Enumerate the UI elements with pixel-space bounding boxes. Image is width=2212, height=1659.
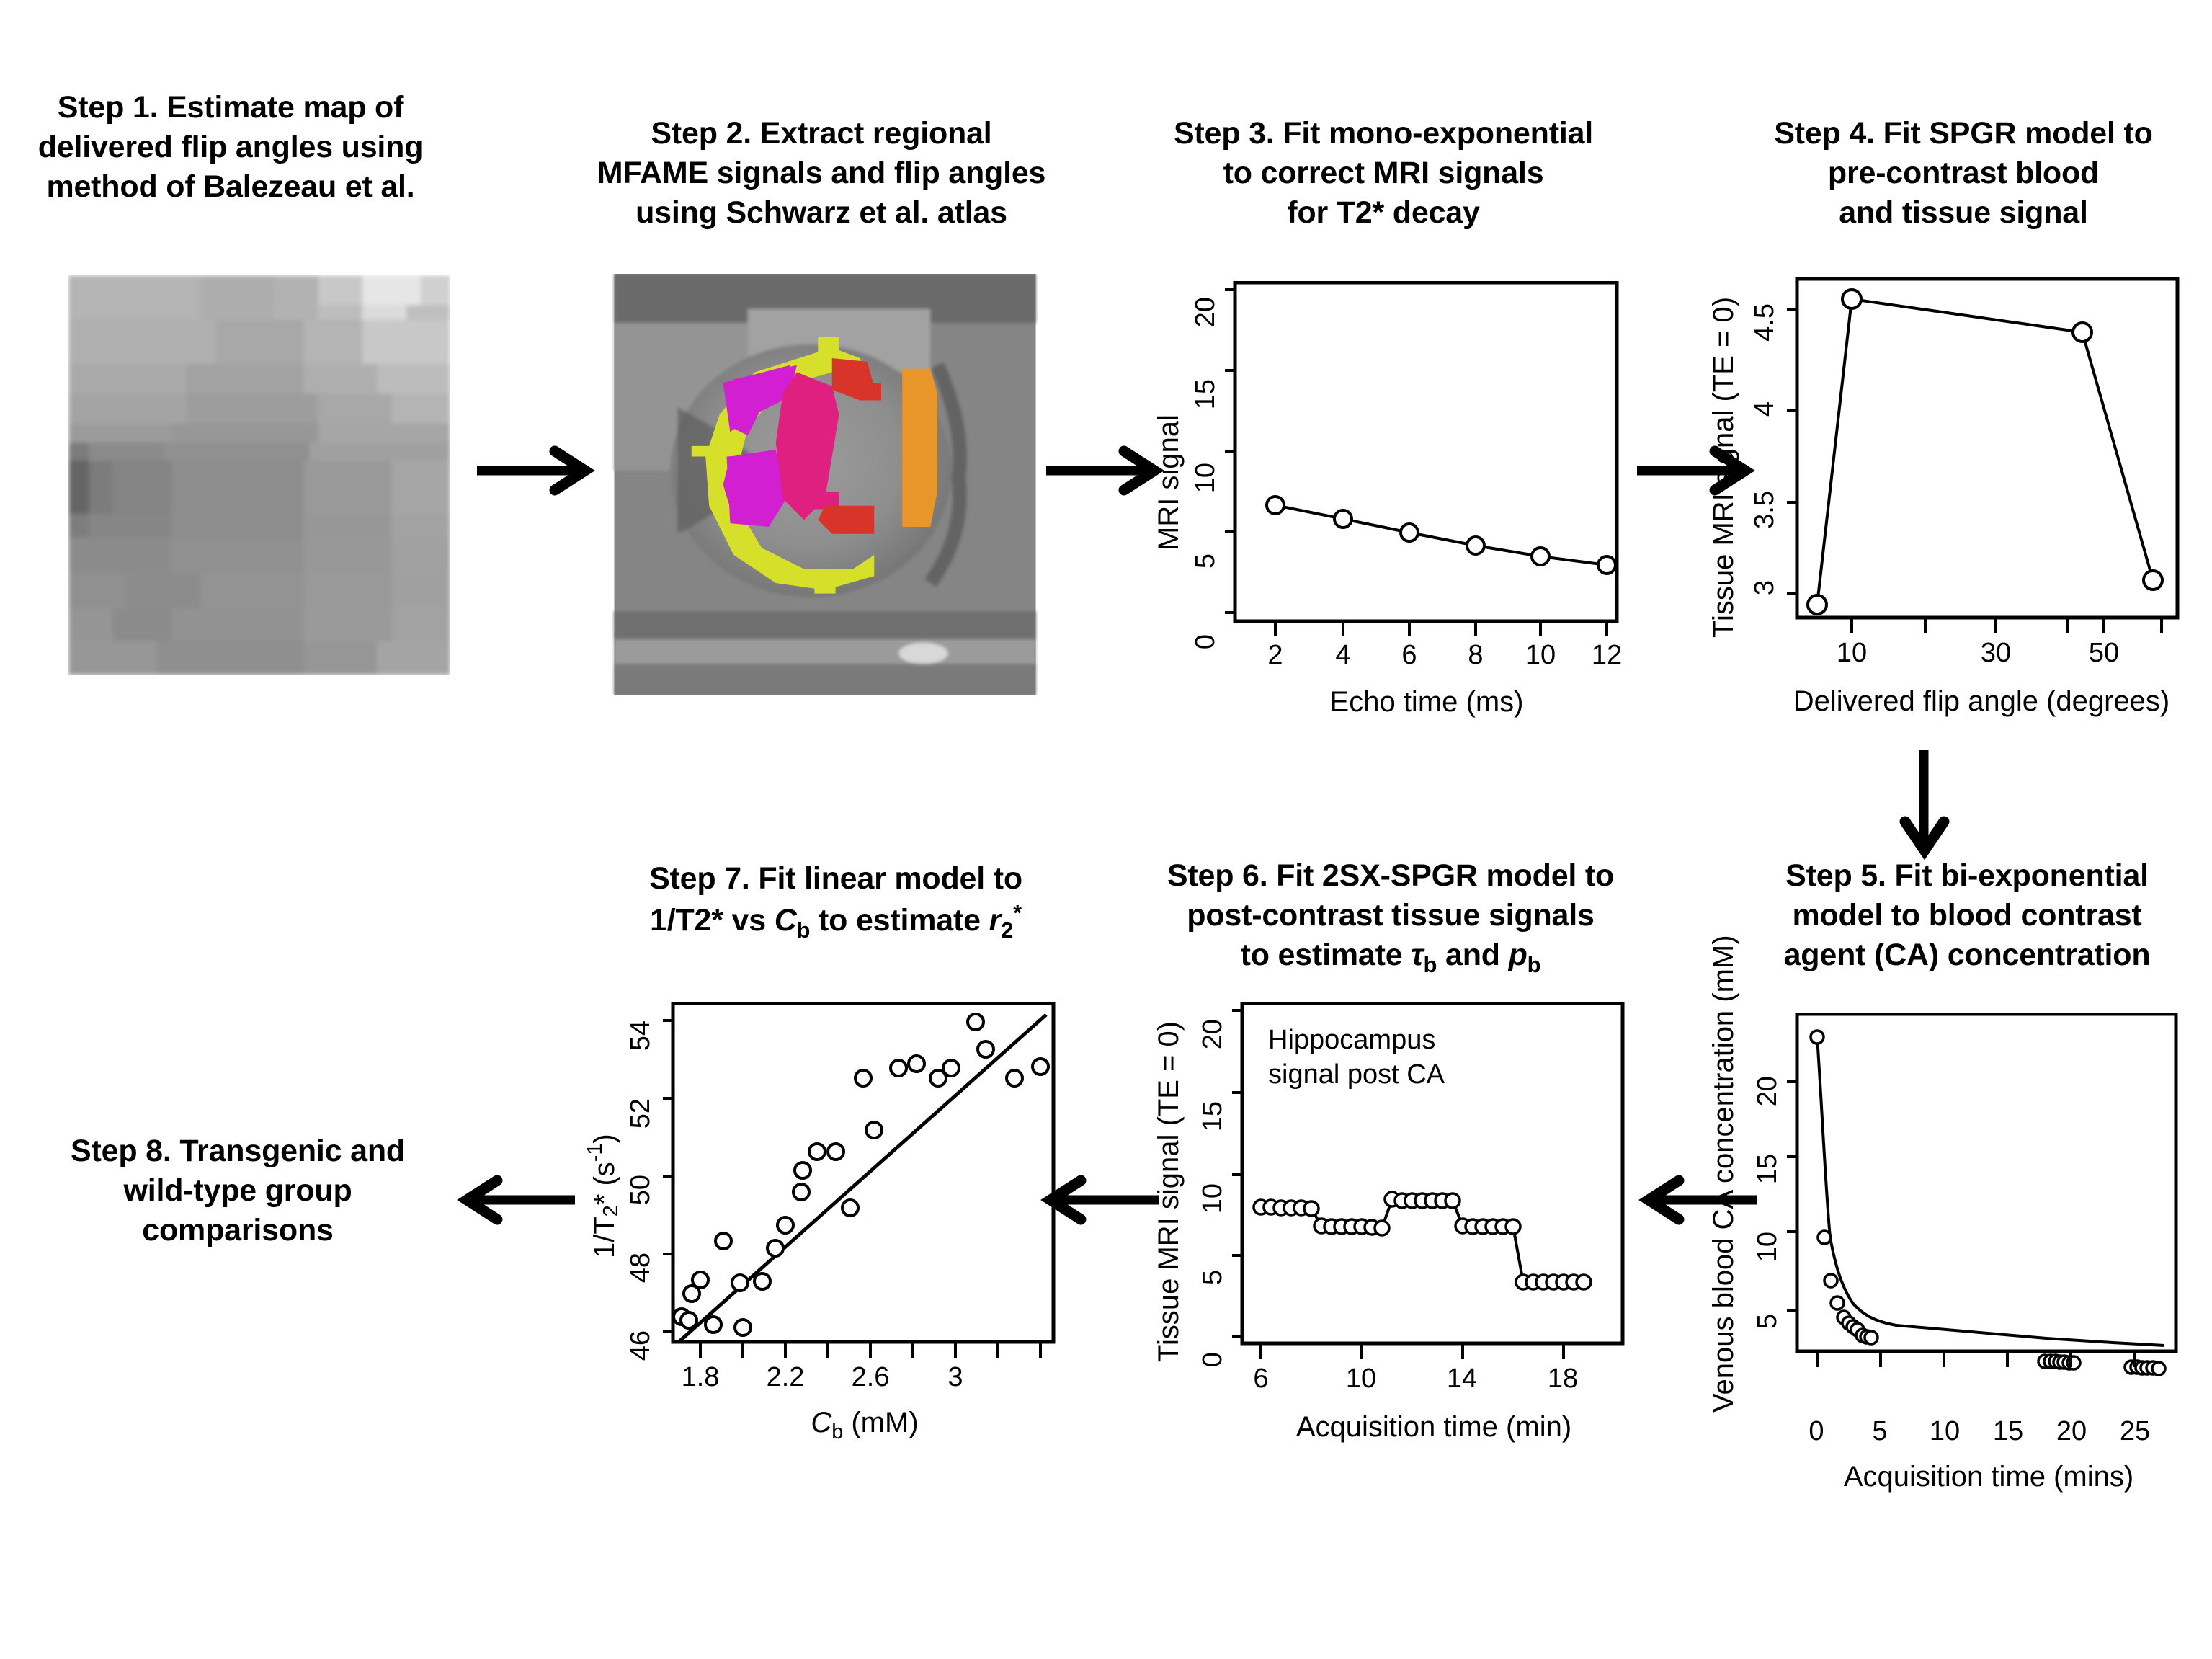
step-6-annotation: Hippocampus signal post CA — [1268, 1023, 1445, 1092]
step-6-chart: Tissue MRI signal (TE = 0) 20 15 10 5 0 — [1153, 1002, 1643, 1470]
step-3-y-tick-0: 0 — [1190, 634, 1221, 649]
step-7-y-tick-54: 54 — [625, 1020, 656, 1051]
step-5-y-tick-20: 20 — [1752, 1076, 1783, 1106]
step-8-title: Step 8. Transgenic and wild-type group c… — [43, 1131, 432, 1250]
step-5-title-line-2: model to blood contrast — [1729, 896, 2205, 935]
step-2-title-line-2: MFAME signals and flip angles — [555, 154, 1088, 193]
step-7-x-tick-1-8: 1.8 — [672, 1362, 729, 1393]
step-6-y-tick-0: 0 — [1198, 1352, 1228, 1367]
step-4-y-tick-4-5: 4.5 — [1749, 303, 1780, 342]
step-7-x-tick-2-6: 2.6 — [842, 1362, 899, 1393]
step-5-x-tick-25: 25 — [2113, 1416, 2157, 1447]
step-2-title-line-1: Step 2. Extract regional — [555, 114, 1088, 154]
step-3-x-axis-label: Echo time (ms) — [1225, 686, 1628, 719]
step-6-title-line-3: to estimate τb and pb — [1138, 935, 1643, 979]
step-5-y-tick-10: 10 — [1752, 1232, 1783, 1262]
step-3-plot-area — [1225, 281, 1628, 670]
arrow-step2-to-step3 — [1045, 445, 1167, 496]
step-4-x-tick-30: 30 — [1974, 638, 2017, 669]
step-6-x-tick-10: 10 — [1339, 1364, 1383, 1395]
step-7-title-line-1: Step 7. Fit linear model to — [591, 859, 1081, 899]
step-5-title: Step 5. Fit bi-exponential model to bloo… — [1729, 856, 2205, 975]
arrow-step4-to-step5 — [1895, 750, 1953, 858]
step-7-chart: 1/T2* (s-1) 54 52 50 48 46 — [584, 1002, 1074, 1470]
step-6-x-tick-18: 18 — [1540, 1364, 1585, 1395]
step-6-title: Step 6. Fit 2SX-SPGR model to post-contr… — [1138, 856, 1643, 979]
step-5-x-tick-0: 0 — [1800, 1416, 1833, 1447]
step-4-x-tick-50: 50 — [2082, 638, 2126, 669]
brain-atlas-overlay — [612, 274, 1038, 695]
step-5-x-tick-15: 15 — [1986, 1416, 2030, 1447]
step-7-y-tick-52: 52 — [625, 1098, 656, 1129]
step-3-x-tick-12: 12 — [1585, 640, 1628, 671]
step-4-y-tick-3-0: 3 — [1749, 580, 1780, 595]
arrow-step7-to-step8 — [454, 1175, 576, 1225]
arrow-step1-to-step2 — [476, 445, 598, 496]
step-4-plot-area — [1787, 277, 2190, 667]
step-1-panel — [68, 275, 450, 675]
step-4-y-tick-4-0: 4 — [1749, 401, 1780, 417]
step-6-x-tick-14: 14 — [1440, 1364, 1484, 1395]
step-6-y-tick-20: 20 — [1198, 1019, 1228, 1049]
step-8-title-line-2: wild-type group — [43, 1171, 432, 1211]
step-2-title: Step 2. Extract regional MFAME signals a… — [555, 114, 1088, 233]
step-4-y-axis-label: Tissue MRI signal (TE = 0) — [1708, 299, 1740, 638]
step-5-x-axis-label: Acquisition time (mins) — [1780, 1461, 2198, 1493]
step-6-title-line-1: Step 6. Fit 2SX-SPGR model to — [1138, 856, 1643, 896]
step-3-y-tick-10: 10 — [1190, 463, 1221, 493]
step-7-plot-area — [663, 1002, 1066, 1391]
step-4-chart: Tissue MRI signal (TE = 0) 4.5 4 3.5 3 1 — [1708, 277, 2212, 746]
step-4-x-tick-10: 10 — [1830, 638, 1873, 669]
step-7-y-axis-label: 1/T2* (s-1) — [584, 1045, 623, 1348]
step-2-panel — [612, 274, 1038, 695]
step-6-y-tick-15: 15 — [1198, 1101, 1228, 1131]
step-3-x-tick-10: 10 — [1519, 640, 1562, 671]
step-5-x-tick-10: 10 — [1922, 1416, 1967, 1447]
step-3-y-tick-5: 5 — [1190, 553, 1221, 569]
step-6-y-tick-5: 5 — [1198, 1270, 1228, 1285]
step-6-title-line-2: post-contrast tissue signals — [1138, 896, 1643, 935]
step-1-title: Step 1. Estimate map of delivered flip a… — [22, 88, 440, 207]
step-3-title-line-1: Step 3. Fit mono-exponential — [1131, 114, 1636, 154]
atlas-region-orange — [902, 369, 937, 527]
step-7-x-axis-label: Cb (mM) — [663, 1407, 1066, 1444]
step-8-title-line-1: Step 8. Transgenic and — [43, 1131, 432, 1171]
step-3-x-tick-6: 6 — [1393, 640, 1425, 671]
step-1-title-line-2: delivered flip angles using — [22, 128, 440, 167]
step-4-x-axis-label: Delivered flip angle (degrees) — [1772, 685, 2190, 718]
step-4-y-tick-3-5: 3.5 — [1749, 491, 1780, 529]
step-7-y-tick-48: 48 — [625, 1253, 656, 1283]
delivered-flip-angle-map — [68, 275, 450, 675]
step-7-title: Step 7. Fit linear model to 1/T2* vs Cb … — [591, 859, 1081, 944]
step-2-title-line-3: using Schwarz et al. atlas — [555, 193, 1088, 233]
step-7-x-tick-2-2: 2.2 — [757, 1362, 814, 1393]
step-6-x-tick-6: 6 — [1245, 1364, 1277, 1395]
step-6-x-axis-label: Acquisition time (min) — [1232, 1411, 1636, 1444]
arrow-step5-to-step6 — [1636, 1175, 1758, 1225]
step-1-title-line-1: Step 1. Estimate map of — [22, 88, 440, 128]
step-8-title-line-3: comparisons — [43, 1211, 432, 1250]
step-5-y-tick-5: 5 — [1752, 1314, 1783, 1329]
step-4-title-line-1: Step 4. Fit SPGR model to — [1729, 114, 2198, 154]
step-3-y-tick-15: 15 — [1190, 379, 1221, 409]
step-7-y-tick-50: 50 — [625, 1175, 656, 1205]
step-5-x-tick-5: 5 — [1863, 1416, 1896, 1447]
step-3-x-tick-2: 2 — [1259, 640, 1291, 671]
step-3-x-tick-4: 4 — [1327, 640, 1359, 671]
step-5-title-line-1: Step 5. Fit bi-exponential — [1729, 856, 2205, 896]
step-7-y-tick-46: 46 — [625, 1330, 656, 1361]
step-4-title-line-2: pre-contrast blood — [1729, 154, 2198, 193]
step-3-y-tick-20: 20 — [1190, 297, 1221, 327]
step-5-chart: Venous blood CA concentration (mM) 20 15… — [1708, 969, 2212, 1474]
step-3-title-line-2: to correct MRI signals — [1131, 154, 1636, 193]
step-5-x-tick-20: 20 — [2049, 1416, 2094, 1447]
step-5-plot-area — [1787, 1013, 2190, 1416]
step-3-chart: MRI signal 20 15 10 5 0 — [1153, 281, 1628, 742]
step-3-title-line-3: for T2* decay — [1131, 193, 1636, 233]
step-6-y-tick-10: 10 — [1198, 1183, 1228, 1214]
step-1-title-line-3: method of Balezeau et al. — [22, 167, 440, 207]
step-3-x-tick-8: 8 — [1460, 640, 1491, 671]
step-4-title-line-3: and tissue signal — [1729, 193, 2198, 233]
step-7-x-tick-3-0: 3 — [927, 1362, 984, 1393]
step-7-title-line-2: 1/T2* vs Cb to estimate r2* — [591, 899, 1081, 944]
step-3-y-axis-label: MRI signal — [1153, 389, 1185, 577]
step-4-title: Step 4. Fit SPGR model to pre-contrast b… — [1729, 114, 2198, 233]
step-3-title: Step 3. Fit mono-exponential to correct … — [1131, 114, 1636, 233]
